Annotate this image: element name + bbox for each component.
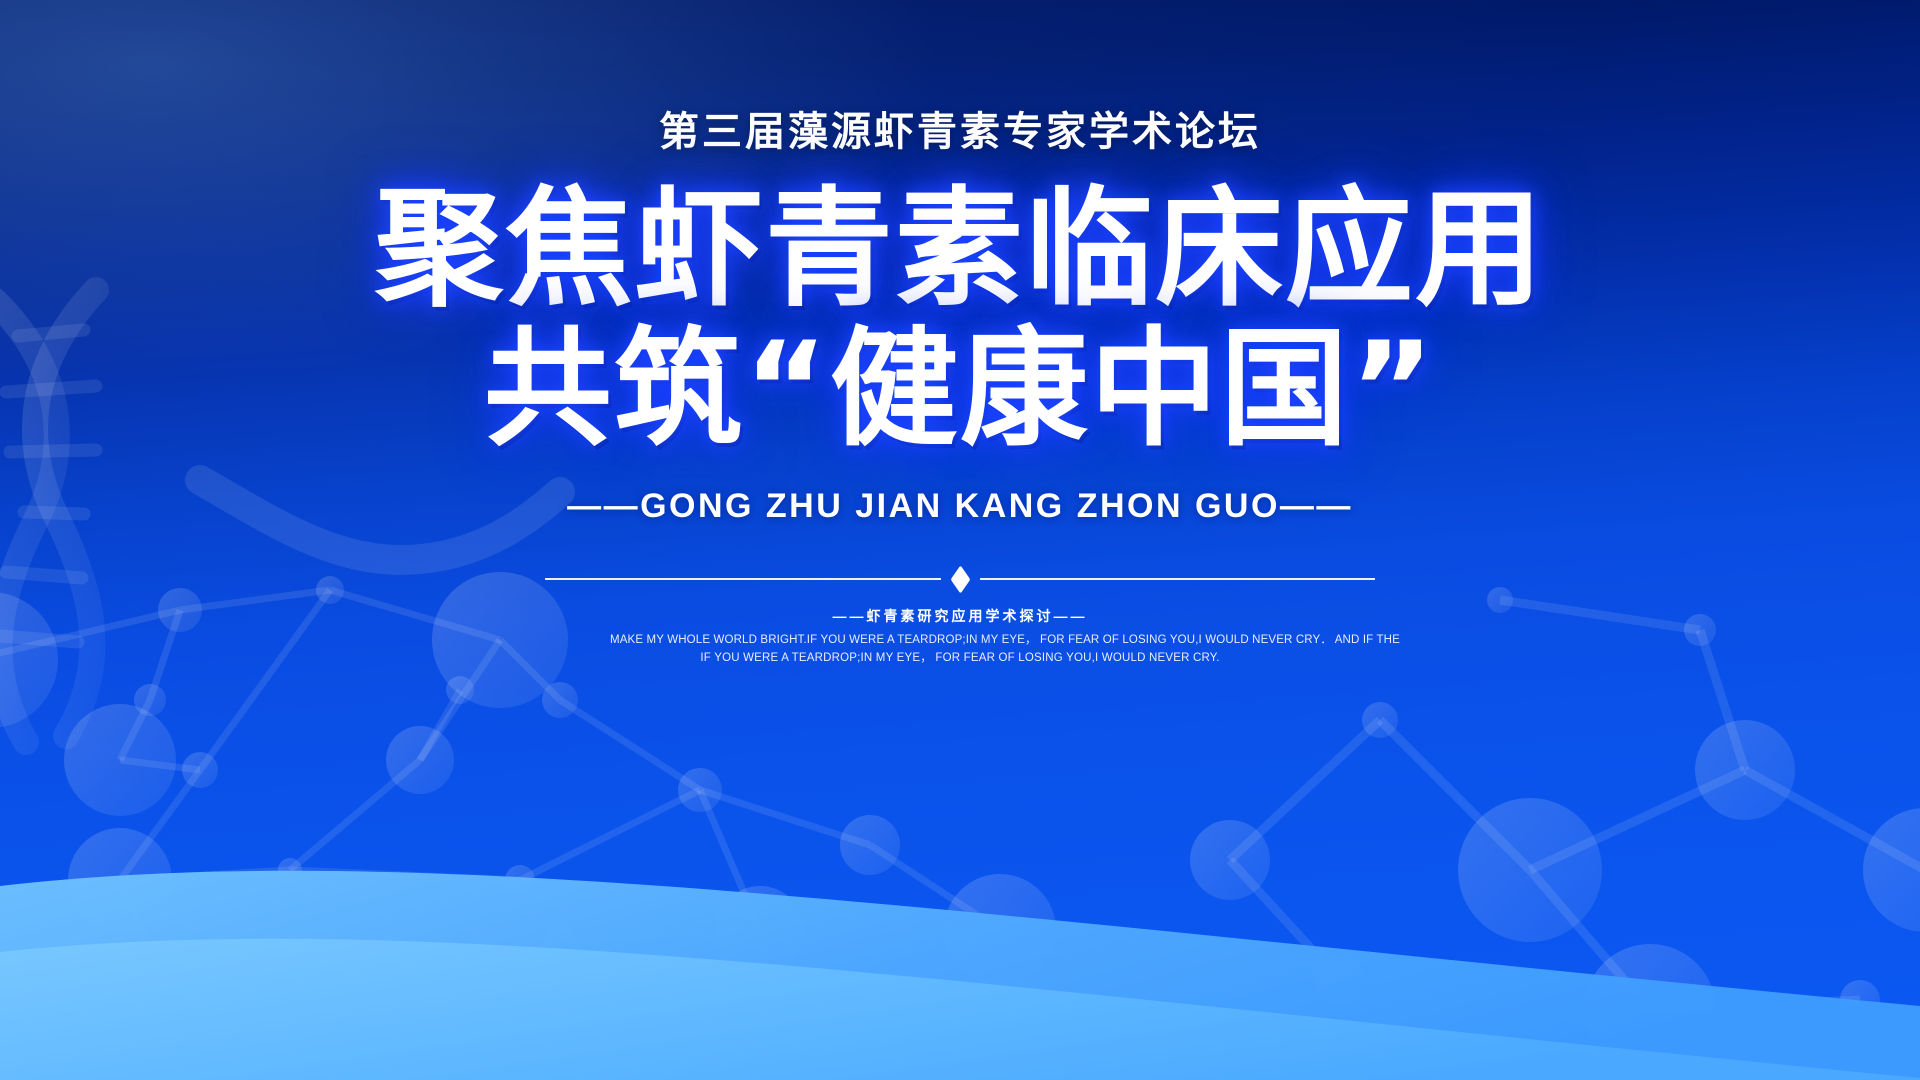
title-line-2: 共筑“健康中国”: [375, 322, 1545, 458]
divider-rule-right: [980, 578, 1376, 580]
poster-background: 第三届藻源虾青素专家学术论坛 聚焦虾青素临床应用 共筑“健康中国” ——GONG…: [0, 0, 1920, 1080]
diamond-icon: [950, 565, 970, 593]
sub-caption-cn: ——虾青素研究应用学术探讨——: [833, 606, 1088, 626]
poster-content: 第三届藻源虾青素专家学术论坛 聚焦虾青素临床应用 共筑“健康中国” ——GONG…: [0, 0, 1920, 1080]
divider: [545, 566, 1375, 592]
fineprint-line-2: IF YOU WERE A TEARDROP;IN MY EYE， FOR FE…: [610, 650, 1310, 668]
divider-rule-left: [545, 578, 941, 580]
pinyin-subtitle: ——GONG ZHU JIAN KANG ZHON GUO——: [567, 487, 1353, 526]
fineprint-line-1: MAKE MY WHOLE WORLD BRIGHT.IF YOU WERE A…: [610, 632, 1310, 650]
fineprint-block: MAKE MY WHOLE WORLD BRIGHT.IF YOU WERE A…: [610, 632, 1310, 668]
title-line-1: 聚焦虾青素临床应用: [375, 182, 1545, 318]
event-name-eyebrow: 第三届藻源虾青素专家学术论坛: [659, 112, 1261, 152]
main-title: 聚焦虾青素临床应用 共筑“健康中国”: [375, 182, 1545, 457]
